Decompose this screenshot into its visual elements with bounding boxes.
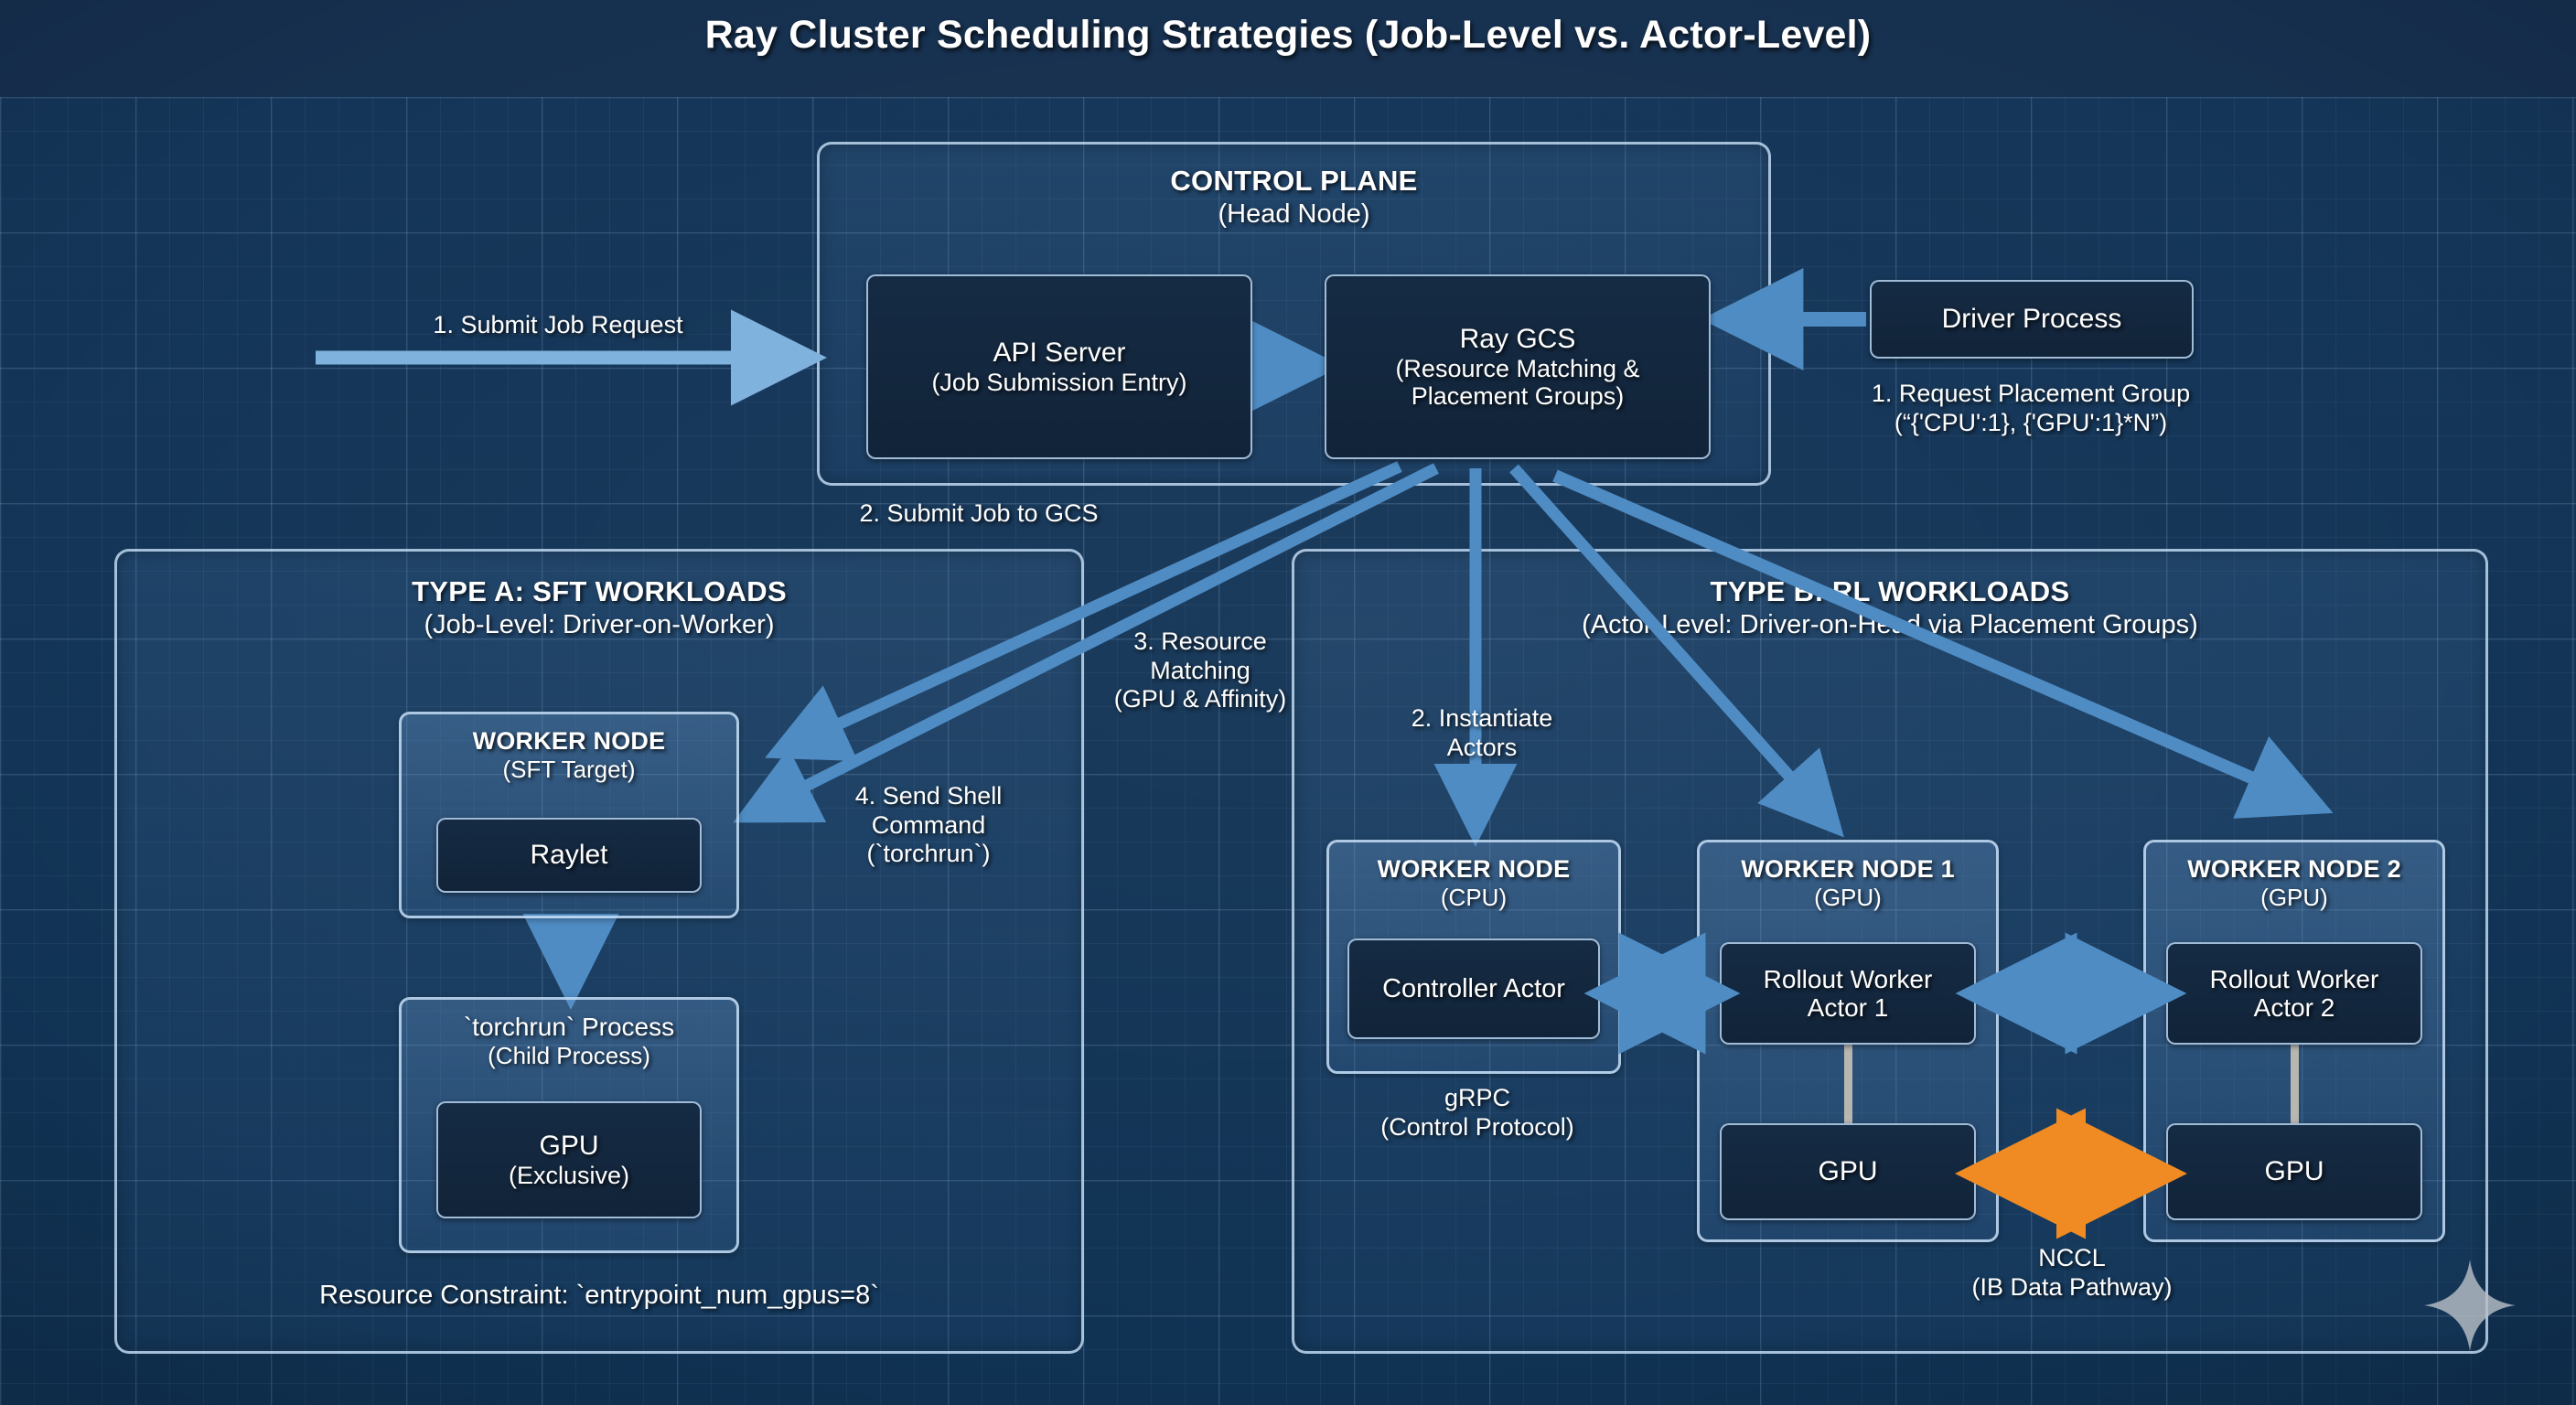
grpc-line-1: gRPC [1326,1084,1628,1113]
type-a-gpu-box[interactable]: GPU (Exclusive) [436,1101,702,1218]
type-a-worker-node-subtitle: (SFT Target) [402,756,736,784]
type-b-subtitle: (Actor-Level: Driver-on-Head via Placeme… [1294,610,2485,640]
label-submit-job-request: 1. Submit Job Request [320,311,796,340]
send-shell-line-2: Command [796,811,1061,841]
driver-process-box[interactable]: Driver Process [1870,280,2194,359]
control-plane-title: CONTROL PLANE [820,165,1768,198]
type-b-node2-gpu-box[interactable]: GPU [2166,1123,2422,1220]
label-send-shell-command: 4. Send Shell Command (`torchrun`) [796,782,1061,869]
driver-note-line-1: 1. Request Placement Group [1793,380,2269,409]
rollout-worker-actor-1-box[interactable]: Rollout Worker Actor 1 [1720,942,1976,1045]
label-resource-matching: 3. Resource Matching (GPU & Affinity) [1054,627,1347,714]
type-b-cpu-node-title: WORKER NODE [1329,855,1618,884]
raylet-box[interactable]: Raylet [436,818,702,893]
type-a-resource-constraint: Resource Constraint: `entrypoint_num_gpu… [146,1281,1052,1312]
nccl-line-2: (IB Data Pathway) [1930,1273,2214,1303]
type-a-worker-node-title: WORKER NODE [402,727,736,756]
nccl-line-1: NCCL [1930,1244,2214,1273]
driver-placement-group-note: 1. Request Placement Group (“{'CPU':1}, … [1793,380,2269,437]
instantiate-line-1: 2. Instantiate [1354,704,1610,734]
raylet-label: Raylet [530,840,607,871]
control-plane-subtitle: (Head Node) [820,199,1768,230]
rollout-actor-2-line-1: Rollout Worker [2210,965,2379,993]
type-a-gpu-sublabel: (Exclusive) [509,1162,629,1189]
type-b-node2-subtitle: (GPU) [2146,884,2442,912]
sparkle-icon [2422,1258,2517,1353]
page-title: Ray Cluster Scheduling Strategies (Job-L… [0,13,2576,58]
type-a-subtitle: (Job-Level: Driver-on-Worker) [117,610,1081,640]
ray-gcs-label: Ray GCS [1460,324,1576,355]
api-server-box[interactable]: API Server (Job Submission Entry) [866,274,1252,459]
type-b-node1-gpu-label: GPU [1818,1156,1877,1187]
send-shell-line-1: 4. Send Shell [796,782,1061,811]
type-b-node1-title: WORKER NODE 1 [1700,855,1996,884]
type-b-title: TYPE B: RL WORKLOADS [1294,575,2485,608]
type-b-node1-subtitle: (GPU) [1700,884,1996,912]
type-a-title: TYPE A: SFT WORKLOADS [117,575,1081,608]
torchrun-sublabel: (Child Process) [402,1042,736,1070]
grpc-line-2: (Control Protocol) [1326,1113,1628,1142]
controller-actor-label: Controller Actor [1382,974,1565,1003]
resource-matching-line-3: (GPU & Affinity) [1054,685,1347,714]
type-b-node2-gpu-label: GPU [2264,1156,2324,1187]
type-b-cpu-node-subtitle: (CPU) [1329,884,1618,912]
resource-matching-line-1: 3. Resource [1054,627,1347,657]
label-grpc: gRPC (Control Protocol) [1326,1084,1628,1142]
diagram-canvas: Ray Cluster Scheduling Strategies (Job-L… [0,0,2576,1405]
type-b-node2-title: WORKER NODE 2 [2146,855,2442,884]
node1-actor-gpu-connector [1844,1045,1852,1123]
ray-gcs-box[interactable]: Ray GCS (Resource Matching & Placement G… [1325,274,1711,459]
rollout-worker-actor-2-box[interactable]: Rollout Worker Actor 2 [2166,942,2422,1045]
node2-actor-gpu-connector [2291,1045,2299,1123]
rollout-actor-1-line-2: Actor 1 [1808,993,1889,1022]
instantiate-line-2: Actors [1354,734,1610,763]
torchrun-label: `torchrun` Process [402,1013,736,1042]
ray-gcs-sublabel-2: Placement Groups) [1411,382,1625,410]
api-server-label: API Server [993,338,1125,369]
api-server-sublabel: (Job Submission Entry) [931,369,1186,396]
ray-gcs-sublabel-1: (Resource Matching & [1395,355,1639,382]
type-a-gpu-label: GPU [539,1131,598,1162]
driver-process-label: Driver Process [1942,304,2122,335]
label-instantiate-actors: 2. Instantiate Actors [1354,704,1610,762]
label-submit-job-to-gcs: 2. Submit Job to GCS [787,499,1171,529]
driver-note-line-2: (“{'CPU':1}, {'GPU':1}*N”) [1793,409,2269,438]
rollout-actor-1-line-1: Rollout Worker [1764,965,1933,993]
type-b-node1-gpu-box[interactable]: GPU [1720,1123,1976,1220]
controller-actor-box[interactable]: Controller Actor [1347,938,1600,1039]
resource-matching-line-2: Matching [1054,657,1347,686]
label-nccl: NCCL (IB Data Pathway) [1930,1244,2214,1302]
send-shell-line-3: (`torchrun`) [796,840,1061,869]
rollout-actor-2-line-2: Actor 2 [2254,993,2335,1022]
